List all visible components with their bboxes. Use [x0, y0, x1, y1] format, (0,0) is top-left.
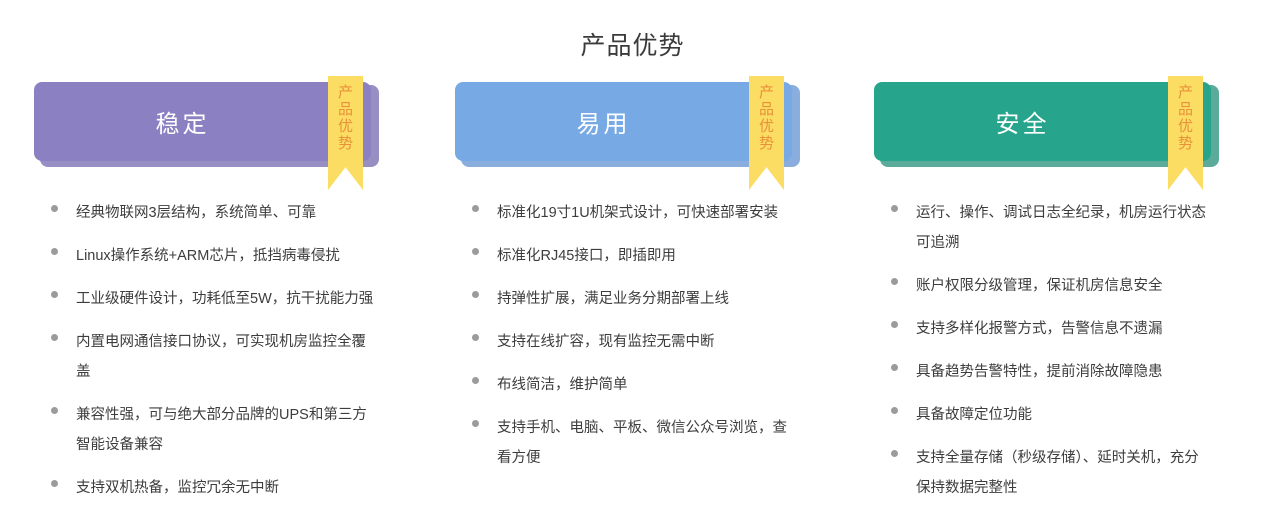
ribbon-char: 优	[338, 118, 353, 135]
feature-text: 支持在线扩容，现有监控无需中断	[497, 327, 715, 357]
ribbon-char: 势	[338, 135, 353, 152]
list-item: 运行、操作、调试日志全纪录，机房运行状态可追溯	[874, 198, 1234, 258]
feature-text: 标准化19寸1U机架式设计，可快速部署安装	[497, 198, 778, 228]
feature-text: 内置电网通信接口协议，可实现机房监控全覆盖	[76, 327, 376, 387]
bullet-icon	[891, 321, 898, 328]
feature-text: 支持双机热备，监控冗余无中断	[76, 473, 279, 503]
list-item: 经典物联网3层结构，系统简单、可靠	[34, 198, 394, 228]
feature-text: Linux操作系统+ARM芯片，抵挡病毒侵扰	[76, 241, 340, 271]
card-title: 稳定	[156, 104, 210, 139]
list-item: 持弹性扩展，满足业务分期部署上线	[455, 284, 815, 314]
list-item: 工业级硬件设计，功耗低至5W，抗干扰能力强	[34, 284, 394, 314]
list-item: 布线简洁，维护简单	[455, 370, 815, 400]
card-title: 安全	[996, 104, 1050, 139]
list-item: 内置电网通信接口协议，可实现机房监控全覆盖	[34, 327, 394, 387]
feature-text: 兼容性强，可与绝大部分品牌的UPS和第三方智能设备兼容	[76, 400, 376, 460]
feature-text: 支持手机、电脑、平板、微信公众号浏览，查看方便	[497, 413, 797, 473]
ribbon-char: 品	[338, 101, 353, 118]
bullet-icon	[472, 377, 479, 384]
card-header: 易用	[455, 82, 792, 161]
ribbon-char: 品	[1178, 101, 1193, 118]
bullet-icon	[891, 205, 898, 212]
bullet-icon	[51, 334, 58, 341]
advantage-card-security: 安全 产 品 优 势 运行、操作、调试日志全纪录，机房运行状态可追溯 账户权限分…	[874, 76, 1265, 494]
bullet-icon	[891, 407, 898, 414]
list-item: 标准化RJ45接口，即插即用	[455, 241, 815, 271]
list-item: 具备趋势告警特性，提前消除故障隐患	[874, 357, 1234, 387]
card-header-wrap: 稳定 产 品 优 势	[34, 76, 379, 176]
ribbon-char: 势	[759, 135, 774, 152]
bullet-icon	[51, 205, 58, 212]
list-item: 具备故障定位功能	[874, 400, 1234, 430]
feature-text: 持弹性扩展，满足业务分期部署上线	[497, 284, 729, 314]
card-header: 稳定	[34, 82, 371, 161]
feature-list: 经典物联网3层结构，系统简单、可靠 Linux操作系统+ARM芯片，抵挡病毒侵扰…	[34, 198, 394, 503]
bullet-icon	[891, 278, 898, 285]
ribbon-char: 产	[1178, 84, 1193, 101]
feature-text: 具备故障定位功能	[916, 400, 1032, 430]
ribbon-char: 势	[1178, 135, 1193, 152]
feature-text: 工业级硬件设计，功耗低至5W，抗干扰能力强	[76, 284, 373, 314]
feature-list: 运行、操作、调试日志全纪录，机房运行状态可追溯 账户权限分级管理，保证机房信息安…	[874, 198, 1234, 503]
bullet-icon	[51, 248, 58, 255]
list-item: 支持全量存储（秒级存储）、延时关机，充分保持数据完整性	[874, 443, 1234, 503]
advantage-columns: 稳定 产 品 优 势 经典物联网3层结构，系统简单、可靠 Linux操作系统+A…	[0, 76, 1265, 494]
bullet-icon	[472, 334, 479, 341]
feature-text: 具备趋势告警特性，提前消除故障隐患	[916, 357, 1163, 387]
list-item: 支持多样化报警方式，告警信息不遗漏	[874, 314, 1234, 344]
product-advantage-ribbon: 产 品 优 势	[1168, 76, 1203, 190]
bullet-icon	[51, 480, 58, 487]
bullet-icon	[51, 291, 58, 298]
list-item: 兼容性强，可与绝大部分品牌的UPS和第三方智能设备兼容	[34, 400, 394, 460]
list-item: Linux操作系统+ARM芯片，抵挡病毒侵扰	[34, 241, 394, 271]
list-item: 支持在线扩容，现有监控无需中断	[455, 327, 815, 357]
bullet-icon	[891, 364, 898, 371]
ribbon-char: 产	[338, 84, 353, 101]
list-item: 标准化19寸1U机架式设计，可快速部署安装	[455, 198, 815, 228]
bullet-icon	[472, 291, 479, 298]
advantage-card-usability: 易用 产 品 优 势 标准化19寸1U机架式设计，可快速部署安装 标准化RJ45…	[455, 76, 846, 494]
list-item: 账户权限分级管理，保证机房信息安全	[874, 271, 1234, 301]
card-header: 安全	[874, 82, 1211, 161]
list-item: 支持双机热备，监控冗余无中断	[34, 473, 394, 503]
bullet-icon	[472, 420, 479, 427]
ribbon-char: 产	[759, 84, 774, 101]
ribbon-char: 优	[759, 118, 774, 135]
feature-text: 账户权限分级管理，保证机房信息安全	[916, 271, 1163, 301]
bullet-icon	[51, 407, 58, 414]
advantage-card-stability: 稳定 产 品 优 势 经典物联网3层结构，系统简单、可靠 Linux操作系统+A…	[34, 76, 425, 494]
feature-text: 支持全量存储（秒级存储）、延时关机，充分保持数据完整性	[916, 443, 1211, 503]
feature-text: 经典物联网3层结构，系统简单、可靠	[76, 198, 316, 228]
product-advantage-ribbon: 产 品 优 势	[328, 76, 363, 190]
feature-text: 运行、操作、调试日志全纪录，机房运行状态可追溯	[916, 198, 1211, 258]
ribbon-char: 优	[1178, 118, 1193, 135]
card-header-wrap: 安全 产 品 优 势	[874, 76, 1219, 176]
bullet-icon	[891, 450, 898, 457]
feature-text: 标准化RJ45接口，即插即用	[497, 241, 676, 271]
feature-list: 标准化19寸1U机架式设计，可快速部署安装 标准化RJ45接口，即插即用 持弹性…	[455, 198, 815, 473]
list-item: 支持手机、电脑、平板、微信公众号浏览，查看方便	[455, 413, 815, 473]
bullet-icon	[472, 205, 479, 212]
page-title: 产品优势	[0, 26, 1265, 62]
card-title: 易用	[577, 104, 631, 139]
card-header-wrap: 易用 产 品 优 势	[455, 76, 800, 176]
feature-text: 布线简洁，维护简单	[497, 370, 628, 400]
bullet-icon	[472, 248, 479, 255]
feature-text: 支持多样化报警方式，告警信息不遗漏	[916, 314, 1163, 344]
ribbon-char: 品	[759, 101, 774, 118]
product-advantage-ribbon: 产 品 优 势	[749, 76, 784, 190]
